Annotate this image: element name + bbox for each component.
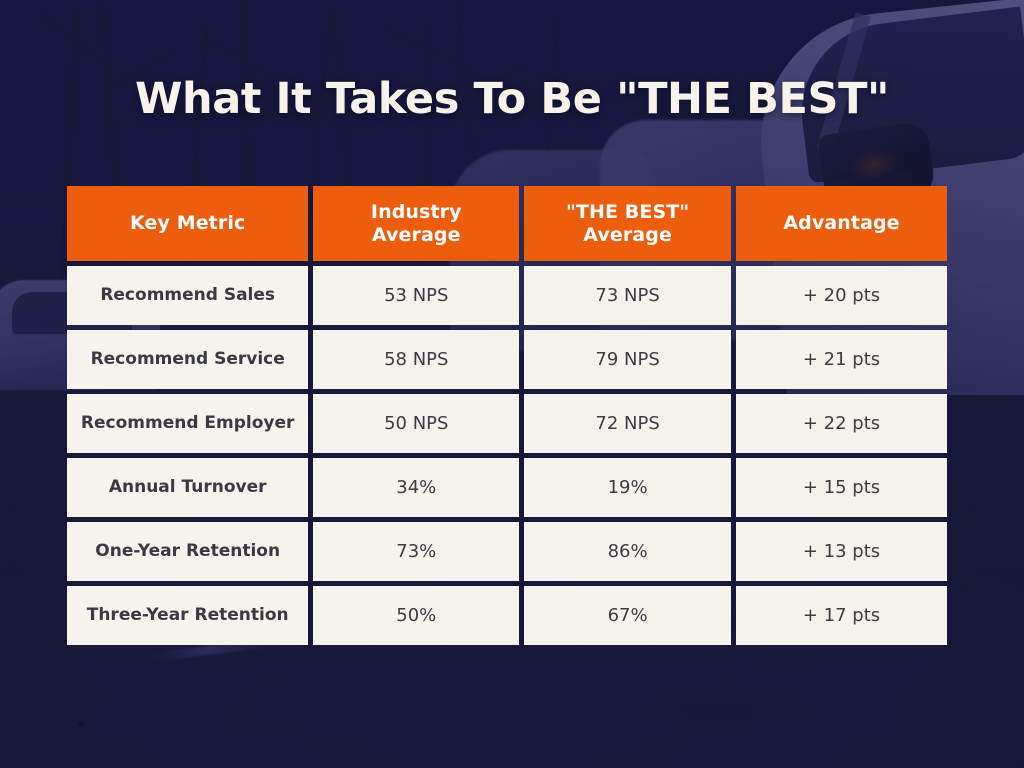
cell-best: 72 NPS — [524, 394, 731, 453]
cell-metric: Recommend Sales — [67, 266, 308, 325]
header-line-1: Advantage — [744, 212, 939, 234]
table-body: Recommend Sales 53 NPS 73 NPS + 20 pts R… — [67, 266, 947, 645]
column-header-advantage: Advantage — [736, 186, 947, 261]
table-row: Recommend Employer 50 NPS 72 NPS + 22 pt… — [67, 394, 947, 453]
cell-industry: 58 NPS — [313, 330, 519, 389]
header-line-1: Key Metric — [75, 212, 300, 234]
cell-best: 73 NPS — [524, 266, 731, 325]
table-header: Key Metric Industry Average "THE BEST" A… — [67, 186, 947, 261]
cell-metric: Annual Turnover — [67, 458, 308, 517]
table-row: Recommend Service 58 NPS 79 NPS + 21 pts — [67, 330, 947, 389]
cell-advantage: + 20 pts — [736, 266, 947, 325]
cell-advantage: + 13 pts — [736, 522, 947, 581]
cell-metric: One-Year Retention — [67, 522, 308, 581]
table-row: Three-Year Retention 50% 67% + 17 pts — [67, 586, 947, 645]
header-row: Key Metric Industry Average "THE BEST" A… — [67, 186, 947, 261]
header-line-1: "THE BEST" — [532, 201, 723, 223]
column-header-industry-average: Industry Average — [313, 186, 519, 261]
cell-advantage: + 22 pts — [736, 394, 947, 453]
cell-advantage: + 17 pts — [736, 586, 947, 645]
cell-advantage: + 15 pts — [736, 458, 947, 517]
cell-best: 79 NPS — [524, 330, 731, 389]
cell-advantage: + 21 pts — [736, 330, 947, 389]
header-line-2: Average — [532, 224, 723, 246]
cell-best: 19% — [524, 458, 731, 517]
cell-best: 67% — [524, 586, 731, 645]
cell-metric: Recommend Service — [67, 330, 308, 389]
table-row: Recommend Sales 53 NPS 73 NPS + 20 pts — [67, 266, 947, 325]
header-line-1: Industry — [321, 201, 511, 223]
table-row: One-Year Retention 73% 86% + 13 pts — [67, 522, 947, 581]
cell-metric: Recommend Employer — [67, 394, 308, 453]
metrics-comparison-table: Key Metric Industry Average "THE BEST" A… — [62, 181, 952, 650]
cell-industry: 34% — [313, 458, 519, 517]
cell-industry: 50 NPS — [313, 394, 519, 453]
page-title: What It Takes To Be "THE BEST" — [0, 74, 1024, 124]
cell-industry: 53 NPS — [313, 266, 519, 325]
header-line-2: Average — [321, 224, 511, 246]
cell-industry: 50% — [313, 586, 519, 645]
cell-industry: 73% — [313, 522, 519, 581]
table-row: Annual Turnover 34% 19% + 15 pts — [67, 458, 947, 517]
cell-best: 86% — [524, 522, 731, 581]
column-header-key-metric: Key Metric — [67, 186, 308, 261]
column-header-the-best-average: "THE BEST" Average — [524, 186, 731, 261]
cell-metric: Three-Year Retention — [67, 586, 308, 645]
